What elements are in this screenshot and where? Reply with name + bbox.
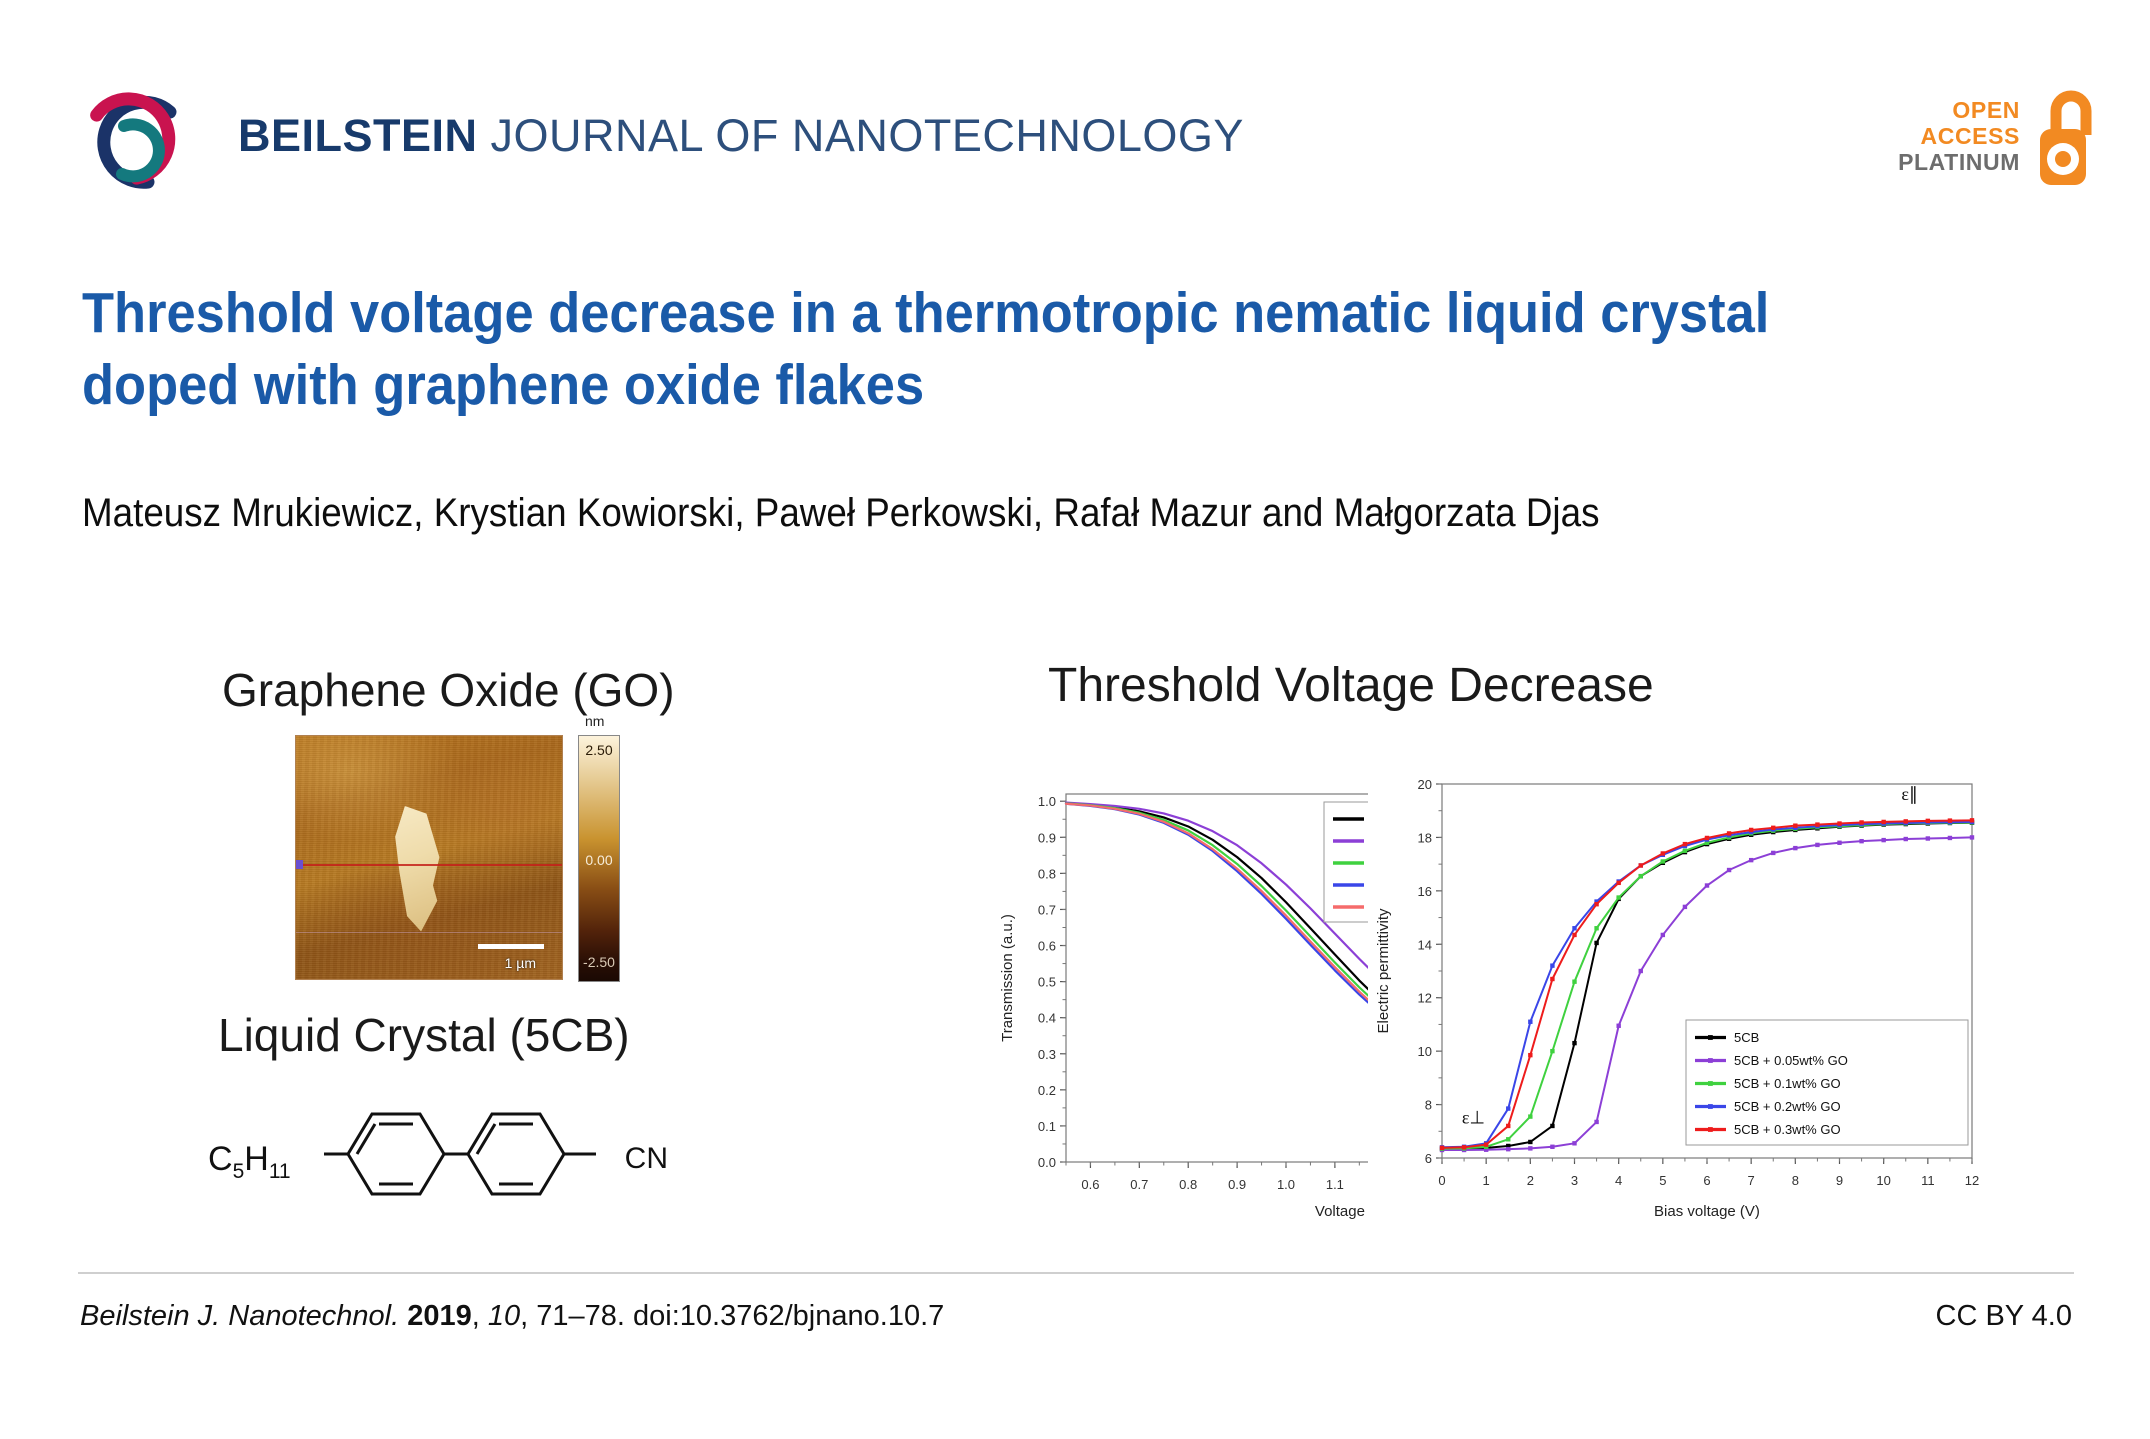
svg-text:0.8: 0.8 bbox=[1038, 866, 1056, 881]
svg-text:5CB: 5CB bbox=[1734, 1030, 1759, 1045]
svg-text:2: 2 bbox=[1527, 1173, 1534, 1188]
svg-text:ε⊥: ε⊥ bbox=[1462, 1107, 1485, 1127]
svg-text:9: 9 bbox=[1836, 1173, 1843, 1188]
svg-text:0.9: 0.9 bbox=[1038, 830, 1056, 845]
svg-text:ε∥: ε∥ bbox=[1901, 784, 1918, 804]
colorbar-mid-label: 0.00 bbox=[579, 852, 619, 868]
svg-text:Transmission (a.u.): Transmission (a.u.) bbox=[999, 914, 1016, 1042]
chart-permittivity: 681012141618200123456789101112ε∥ε⊥Bias v… bbox=[1368, 770, 1988, 1220]
svg-text:Electric permittivity: Electric permittivity bbox=[1375, 908, 1392, 1034]
svg-text:18: 18 bbox=[1418, 830, 1432, 845]
caption-graphene-oxide: Graphene Oxide (GO) bbox=[222, 663, 675, 717]
open-access-badge: OPEN ACCESS PLATINUM bbox=[1898, 78, 2102, 196]
scale-bar bbox=[478, 944, 544, 949]
svg-text:8: 8 bbox=[1792, 1173, 1799, 1188]
colorbar-max-label: 2.50 bbox=[579, 742, 619, 758]
svg-text:10: 10 bbox=[1876, 1173, 1890, 1188]
molecule-5cb: C5H11 CN bbox=[208, 1102, 668, 1212]
svg-text:0: 0 bbox=[1438, 1173, 1445, 1188]
svg-text:Bias voltage (V): Bias voltage (V) bbox=[1654, 1203, 1760, 1220]
svg-text:16: 16 bbox=[1418, 884, 1432, 899]
caption-threshold-voltage-decrease: Threshold Voltage Decrease bbox=[1048, 658, 1654, 713]
open-access-words: OPEN ACCESS PLATINUM bbox=[1898, 98, 2020, 175]
svg-text:7: 7 bbox=[1748, 1173, 1755, 1188]
page-title: Threshold voltage decrease in a thermotr… bbox=[82, 278, 1885, 422]
poster-page: BEILSTEIN JOURNAL OF NANOTECHNOLOGY OPEN… bbox=[0, 0, 2150, 1439]
svg-text:5: 5 bbox=[1659, 1173, 1666, 1188]
svg-text:6: 6 bbox=[1425, 1151, 1432, 1166]
svg-text:0.5: 0.5 bbox=[1038, 975, 1056, 990]
open-access-line-open: OPEN bbox=[1952, 98, 2020, 124]
afm-surface: 1 µm bbox=[295, 735, 563, 980]
svg-text:0.2: 0.2 bbox=[1038, 1083, 1056, 1098]
citation-pages-doi: 71–78. doi:10.3762/bjnano.10.7 bbox=[536, 1300, 944, 1332]
page-header: BEILSTEIN JOURNAL OF NANOTECHNOLOGY OPEN… bbox=[0, 0, 2150, 200]
colorbar-unit: nm bbox=[585, 713, 604, 729]
journal-name-bold: BEILSTEIN bbox=[238, 110, 478, 161]
journal-masthead: BEILSTEIN JOURNAL OF NANOTECHNOLOGY bbox=[238, 110, 1244, 162]
svg-text:1.0: 1.0 bbox=[1038, 794, 1056, 809]
svg-text:0.1: 0.1 bbox=[1038, 1119, 1056, 1134]
caption-liquid-crystal: Liquid Crystal (5CB) bbox=[218, 1008, 630, 1062]
afm-colorbar: nm 2.50 0.00 -2.50 bbox=[576, 735, 626, 980]
svg-text:10: 10 bbox=[1418, 1044, 1432, 1059]
svg-text:6: 6 bbox=[1703, 1173, 1710, 1188]
svg-text:4: 4 bbox=[1615, 1173, 1622, 1188]
open-access-line-access: ACCESS bbox=[1921, 124, 2020, 150]
svg-text:0.9: 0.9 bbox=[1228, 1177, 1246, 1192]
open-lock-icon bbox=[2030, 85, 2102, 189]
license-label: CC BY 4.0 bbox=[1936, 1300, 2072, 1333]
footer-divider bbox=[78, 1272, 2074, 1274]
svg-text:14: 14 bbox=[1418, 937, 1432, 952]
svg-text:1.1: 1.1 bbox=[1326, 1177, 1344, 1192]
graphical-abstract: Graphene Oxide (GO) Liquid Crystal (5CB)… bbox=[0, 650, 2150, 1250]
author-list: Mateusz Mrukiewicz, Krystian Kowiorski, … bbox=[82, 485, 1830, 542]
afm-scan-line bbox=[296, 864, 562, 866]
svg-text:5CB + 0.3wt% GO: 5CB + 0.3wt% GO bbox=[1734, 1122, 1841, 1137]
afm-scan-marker bbox=[296, 860, 303, 869]
alkyl-chain-label: C5H11 bbox=[208, 1140, 291, 1184]
svg-text:12: 12 bbox=[1965, 1173, 1979, 1188]
alkyl-sub-11: 11 bbox=[269, 1160, 291, 1183]
afm-image: 1 µm bbox=[295, 735, 563, 980]
svg-text:1.0: 1.0 bbox=[1277, 1177, 1295, 1192]
biphenyl-rings bbox=[324, 1102, 624, 1206]
citation: Beilstein J. Nanotechnol. 2019, 10, 71–7… bbox=[80, 1300, 944, 1333]
open-access-line-platinum: PLATINUM bbox=[1898, 150, 2020, 176]
scale-bar-label: 1 µm bbox=[505, 955, 536, 971]
svg-text:0.8: 0.8 bbox=[1179, 1177, 1197, 1192]
svg-text:0.6: 0.6 bbox=[1081, 1177, 1099, 1192]
svg-text:8: 8 bbox=[1425, 1098, 1432, 1113]
citation-volume: 10 bbox=[488, 1300, 520, 1332]
svg-text:20: 20 bbox=[1418, 777, 1432, 792]
svg-text:1: 1 bbox=[1483, 1173, 1490, 1188]
svg-text:0.6: 0.6 bbox=[1038, 939, 1056, 954]
citation-year: 2019 bbox=[407, 1300, 472, 1332]
svg-text:5CB + 0.1wt% GO: 5CB + 0.1wt% GO bbox=[1734, 1076, 1841, 1091]
svg-text:0.3: 0.3 bbox=[1038, 1047, 1056, 1062]
svg-text:0.7: 0.7 bbox=[1038, 902, 1056, 917]
svg-text:5CB + 0.05wt% GO: 5CB + 0.05wt% GO bbox=[1734, 1053, 1848, 1068]
svg-text:0.4: 0.4 bbox=[1038, 1011, 1056, 1026]
colorbar-min-label: -2.50 bbox=[579, 954, 619, 970]
colorbar-gradient: 2.50 0.00 -2.50 bbox=[578, 735, 620, 982]
svg-text:11: 11 bbox=[1921, 1173, 1935, 1188]
svg-text:0.0: 0.0 bbox=[1038, 1155, 1056, 1170]
citation-journal: Beilstein J. Nanotechnol. bbox=[80, 1300, 399, 1332]
nitrile-label: CN bbox=[625, 1142, 668, 1176]
afm-faint-line bbox=[296, 932, 562, 933]
alkyl-sub-5: 5 bbox=[233, 1160, 245, 1183]
beilstein-logo-icon bbox=[78, 82, 188, 192]
svg-text:12: 12 bbox=[1418, 991, 1432, 1006]
svg-text:5CB + 0.2wt% GO: 5CB + 0.2wt% GO bbox=[1734, 1099, 1841, 1114]
journal-name-light: JOURNAL OF NANOTECHNOLOGY bbox=[478, 110, 1244, 161]
svg-text:3: 3 bbox=[1571, 1173, 1578, 1188]
svg-text:0.7: 0.7 bbox=[1130, 1177, 1148, 1192]
